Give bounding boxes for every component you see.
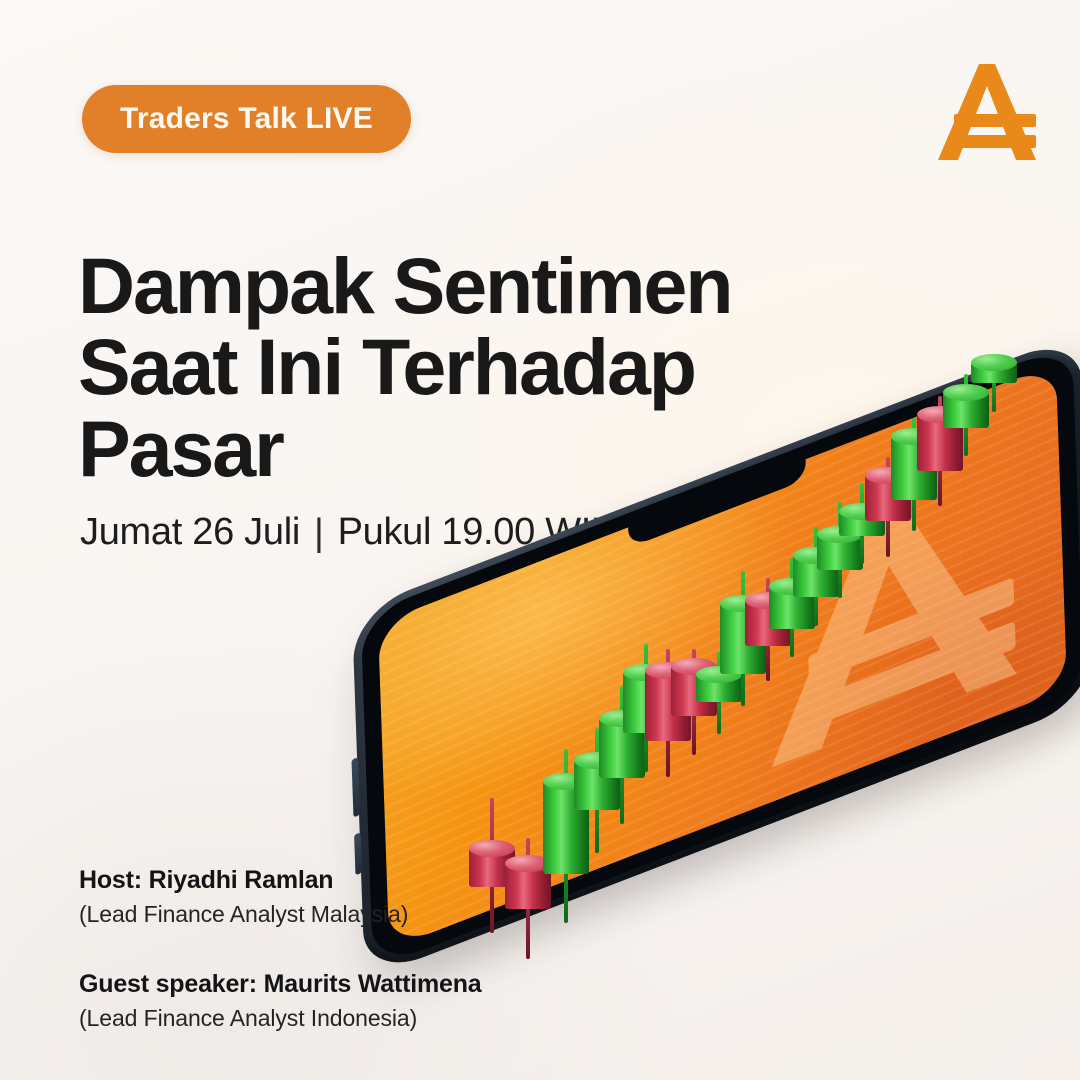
candle-top-cap (696, 666, 742, 683)
candle-body (917, 414, 963, 471)
candle-body (645, 670, 691, 741)
candlestick (891, 418, 937, 532)
candle-wick (717, 652, 721, 734)
candlestick (865, 457, 911, 556)
candle-body (971, 362, 1017, 383)
candle-wick (741, 571, 745, 706)
candlestick (720, 571, 766, 706)
candlestick (817, 502, 863, 598)
headline-line-3: Pasar (78, 408, 798, 489)
candle-body (505, 863, 551, 909)
candlestick (645, 649, 691, 777)
candle-wick (860, 483, 864, 565)
live-badge-label: Traders Talk LIVE (120, 102, 373, 136)
candle-body (943, 392, 989, 428)
candlestick (769, 558, 815, 657)
candlestick (917, 396, 963, 506)
candle-wick (838, 502, 842, 598)
page-title: Dampak Sentimen Saat Ini Terhadap Pasar (78, 245, 798, 489)
candlestick (696, 652, 742, 734)
candle-body (623, 672, 669, 732)
candle-wick (666, 649, 670, 777)
candlestick (671, 649, 717, 756)
candle-top-cap (574, 752, 620, 769)
schedule-line: Jumat 26 Juli | Pukul 19.00 WIB (80, 511, 616, 554)
candlestick (793, 527, 839, 626)
candle-top-cap (645, 662, 691, 679)
candle-top-cap (971, 354, 1017, 371)
candle-body (671, 666, 717, 716)
candle-wick (595, 728, 599, 852)
candle-body (720, 603, 766, 674)
candle-wick (620, 686, 624, 824)
speaker-role: (Lead Finance Analyst Malaysia) (79, 901, 482, 928)
candle-body (839, 511, 885, 536)
speaker-name: Guest speaker: Maurits Wattimena (79, 970, 482, 999)
candlestick (574, 728, 620, 852)
candle-top-cap (891, 428, 937, 445)
candle-top-cap (623, 664, 669, 681)
candle-wick (964, 374, 968, 456)
candle-wick (938, 396, 942, 506)
candle-body (696, 674, 742, 702)
candle-body (599, 718, 645, 778)
candle-top-cap (865, 467, 911, 484)
candle-body (865, 475, 911, 521)
headline-line-1: Dampak Sentimen (78, 245, 798, 326)
candle-top-cap (817, 526, 863, 543)
candlestick (839, 483, 885, 565)
promo-poster: Traders Talk LIVE Dampak Sentimen Saat I… (0, 0, 1080, 1080)
candle-top-cap (839, 503, 885, 520)
candle-wick (992, 355, 996, 412)
screen-watermark-a-logo (746, 449, 1034, 791)
candle-body (769, 586, 815, 629)
candle-body (574, 760, 620, 810)
phone-volume-button (351, 757, 360, 817)
speaker-list: Host: Riyadhi Ramlan (Lead Finance Analy… (79, 866, 482, 1032)
candle-body (817, 534, 863, 570)
speaker-host: Host: Riyadhi Ramlan (Lead Finance Analy… (79, 866, 482, 928)
candle-wick (912, 418, 916, 532)
candlestick (599, 686, 645, 824)
candlestick (543, 749, 589, 923)
speaker-role: (Lead Finance Analyst Indonesia) (79, 1005, 482, 1032)
candle-top-cap (745, 592, 791, 609)
candle-top-cap (599, 710, 645, 727)
candle-top-cap (793, 547, 839, 564)
candlestick (745, 578, 791, 681)
candle-wick (490, 798, 494, 933)
candle-top-cap (469, 840, 515, 857)
schedule-separator: | (314, 512, 324, 555)
candle-body (793, 555, 839, 598)
candle-wick (814, 527, 818, 626)
candle-top-cap (720, 595, 766, 612)
candle-body (543, 781, 589, 873)
candle-wick (526, 838, 530, 959)
candle-top-cap (543, 773, 589, 790)
candle-top-cap (769, 578, 815, 595)
candlestick (623, 644, 669, 772)
schedule-time: Pukul 19.00 WIB (338, 511, 617, 554)
speaker-guest: Guest speaker: Maurits Wattimena (Lead F… (79, 970, 482, 1032)
live-badge[interactable]: Traders Talk LIVE (82, 85, 411, 153)
candle-top-cap (943, 384, 989, 401)
candle-wick (886, 457, 890, 556)
candle-wick (644, 644, 648, 772)
schedule-date: Jumat 26 Juli (80, 511, 300, 554)
candle-wick (564, 749, 568, 923)
candle-top-cap (671, 658, 717, 675)
speaker-name: Host: Riyadhi Ramlan (79, 866, 482, 895)
brand-a-logo (932, 56, 1042, 168)
candle-wick (692, 649, 696, 756)
candle-wick (790, 558, 794, 657)
candle-top-cap (505, 855, 551, 872)
candle-wick (766, 578, 770, 681)
candlestick (971, 355, 1017, 412)
candlestick (505, 838, 551, 959)
candle-top-cap (917, 406, 963, 423)
candlestick (943, 374, 989, 456)
candle-body (745, 600, 791, 646)
candle-body (891, 436, 937, 500)
headline-line-2: Saat Ini Terhadap (78, 326, 798, 407)
